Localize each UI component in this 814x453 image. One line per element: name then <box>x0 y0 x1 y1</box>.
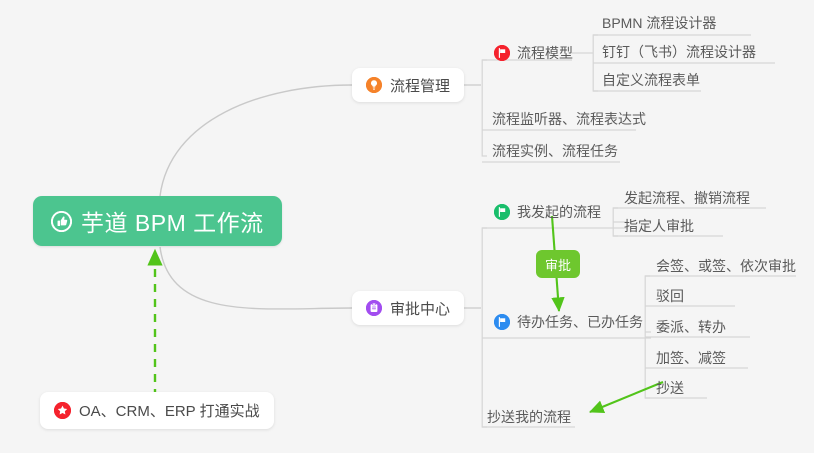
node-dingtalk-feishu-designer[interactable]: 钉钉（飞书）流程设计器 <box>602 39 756 65</box>
node-label-bpmn-designer: BPMN 流程设计器 <box>602 13 716 33</box>
note-label: OA、CRM、ERP 打通实战 <box>79 400 260 421</box>
node-label-start-cancel-process: 发起流程、撤销流程 <box>624 188 750 208</box>
node-label-process-model: 流程模型 <box>517 43 573 63</box>
node-process-instance[interactable]: 流程实例、流程任务 <box>492 138 618 164</box>
node-todo-done-tasks[interactable]: 待办任务、已办任务 <box>494 309 643 335</box>
root-node[interactable]: 芋道 BPM 工作流 <box>33 196 282 246</box>
node-label-custom-process-form: 自定义流程表单 <box>602 70 700 90</box>
node-label-delegate-transfer: 委派、转办 <box>656 317 726 337</box>
clipboard-icon <box>366 300 382 316</box>
mindmap-canvas[interactable]: 芋道 BPM 工作流 OA、CRM、ERP 打通实战 流程管理 <box>0 0 814 453</box>
node-cc-to-me[interactable]: 抄送我的流程 <box>487 404 571 430</box>
node-reject[interactable]: 驳回 <box>656 283 684 309</box>
annotation-approval-tag[interactable]: 审批 <box>536 250 580 278</box>
node-label-cc: 抄送 <box>656 378 684 398</box>
node-label-my-started-process: 我发起的流程 <box>517 202 601 222</box>
node-label-assignee-approval: 指定人审批 <box>624 216 694 236</box>
root-label: 芋道 BPM 工作流 <box>81 204 264 238</box>
branch-node-process-management[interactable]: 流程管理 <box>352 68 464 102</box>
node-my-started-process[interactable]: 我发起的流程 <box>494 199 601 225</box>
node-delegate-transfer[interactable]: 委派、转办 <box>656 314 726 340</box>
node-label-add-remove-sign: 加签、减签 <box>656 348 726 368</box>
branch-label-process-management: 流程管理 <box>390 75 450 96</box>
node-label-reject: 驳回 <box>656 286 684 306</box>
flag-icon <box>494 314 510 330</box>
node-cc[interactable]: 抄送 <box>656 375 684 401</box>
node-label-dingtalk-feishu-designer: 钉钉（飞书）流程设计器 <box>602 42 756 62</box>
node-start-cancel-process[interactable]: 发起流程、撤销流程 <box>624 185 750 211</box>
flag-icon <box>494 204 510 220</box>
flag-icon <box>494 45 510 61</box>
node-label-countersign: 会签、或签、依次审批 <box>656 256 796 276</box>
node-label-cc-to-me: 抄送我的流程 <box>487 407 571 427</box>
node-process-model[interactable]: 流程模型 <box>494 40 573 66</box>
thumbs-up-icon <box>51 211 72 232</box>
annotation-approval-tag-label: 审批 <box>545 255 571 274</box>
branch-node-approval-center[interactable]: 审批中心 <box>352 291 464 325</box>
node-label-process-instance: 流程实例、流程任务 <box>492 141 618 161</box>
branch-label-approval-center: 审批中心 <box>390 298 450 319</box>
star-icon <box>54 402 71 419</box>
node-process-listener[interactable]: 流程监听器、流程表达式 <box>492 106 646 132</box>
node-label-process-listener: 流程监听器、流程表达式 <box>492 109 646 129</box>
note-node[interactable]: OA、CRM、ERP 打通实战 <box>40 392 274 429</box>
node-bpmn-designer[interactable]: BPMN 流程设计器 <box>602 10 716 36</box>
node-countersign[interactable]: 会签、或签、依次审批 <box>656 253 796 279</box>
node-label-todo-done-tasks: 待办任务、已办任务 <box>517 312 643 332</box>
node-custom-process-form[interactable]: 自定义流程表单 <box>602 67 700 93</box>
node-add-remove-sign[interactable]: 加签、减签 <box>656 345 726 371</box>
lightbulb-icon <box>366 77 382 93</box>
node-assignee-approval[interactable]: 指定人审批 <box>624 213 694 239</box>
